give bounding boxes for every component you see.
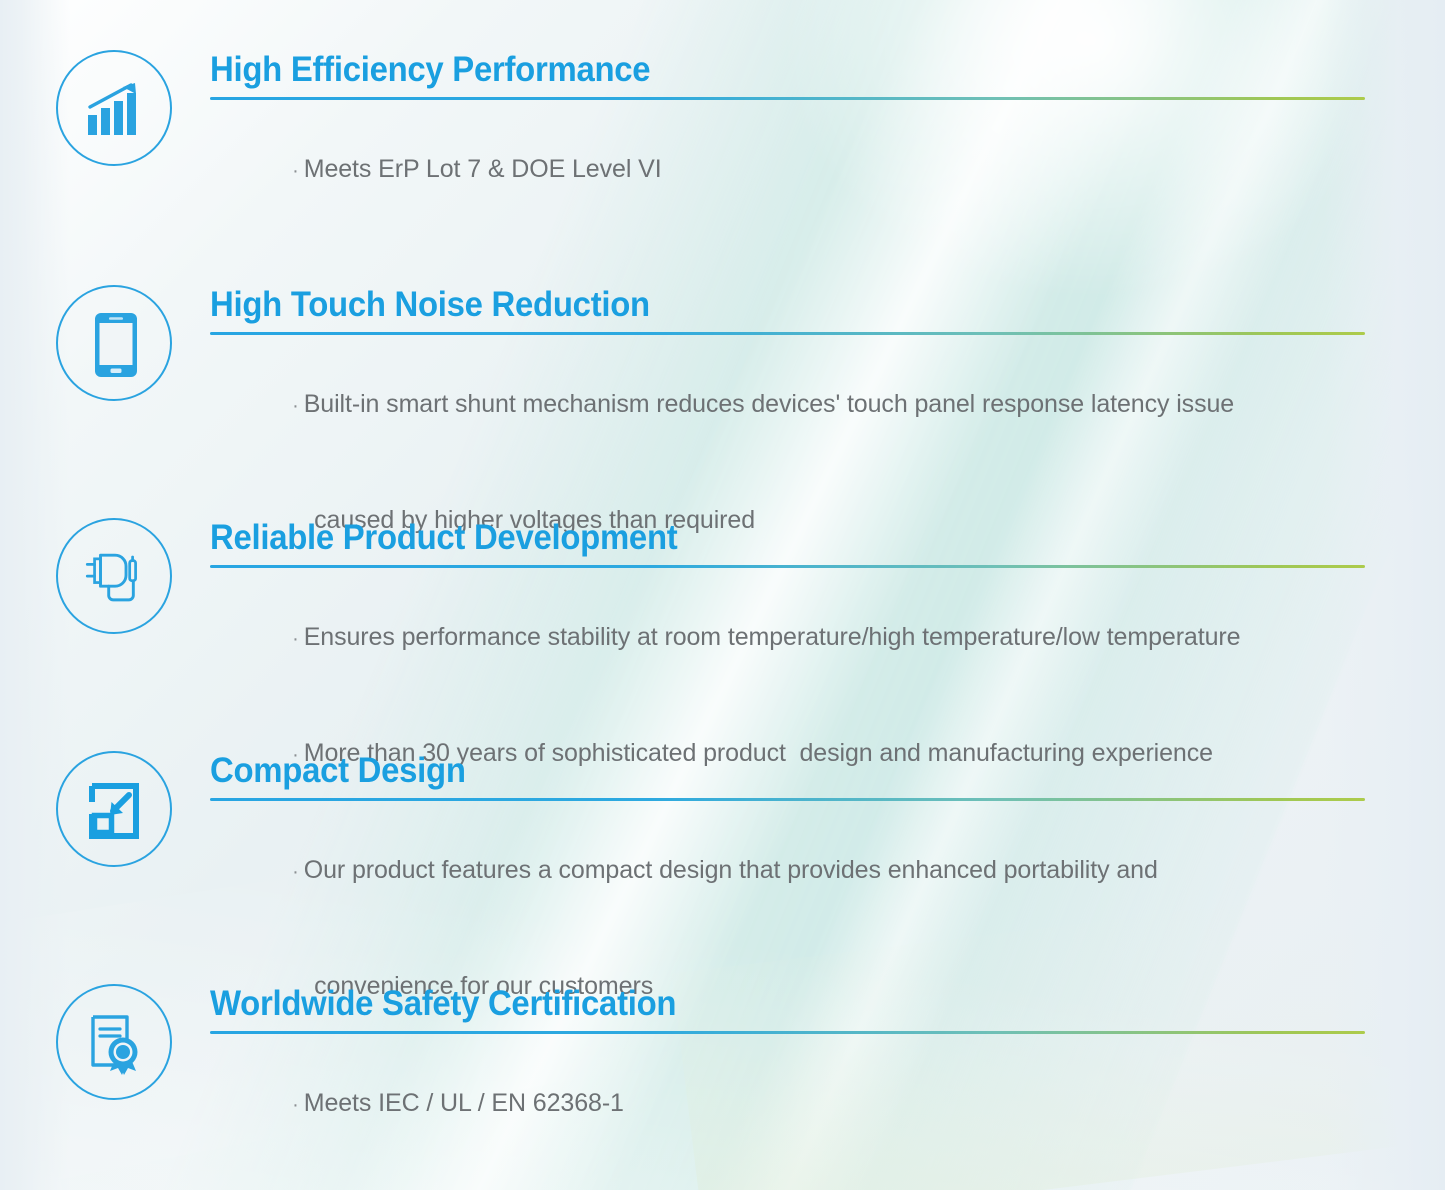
feature-divider — [210, 565, 1365, 568]
feature-divider — [210, 97, 1365, 100]
feature-title: High Touch Noise Reduction — [210, 285, 1296, 325]
bullet-text: Ensures performance stability at room te… — [304, 623, 1241, 651]
bullet-text: Meets IEC / UL / EN 62368-1 — [304, 1089, 624, 1117]
feature-bullet-line: ·Meets IEC / UL / EN 62368-1 — [210, 1046, 1365, 1162]
smartphone-icon — [85, 314, 147, 376]
bullet-text: Our product features a compact design th… — [304, 856, 1158, 884]
feature-title: High Efficiency Performance — [210, 50, 1296, 90]
bullet-text: Built-in smart shunt mechanism reduces d… — [304, 390, 1234, 418]
power-adapter-icon — [85, 547, 147, 609]
bullet-marker: · — [292, 1094, 304, 1116]
feature-icon-container — [56, 518, 176, 638]
bullet-marker: · — [292, 160, 304, 182]
feature-title: Reliable Product Development — [210, 518, 1296, 558]
feature-icon-container — [56, 751, 176, 871]
feature-list: High Efficiency Performance ·Meets ErP L… — [0, 0, 1445, 1190]
feature-bullet-list: ·Meets ErP Lot 7 & DOE Level VI — [210, 112, 1365, 228]
feature-icon-container — [56, 984, 176, 1104]
feature-bullet-line: ·Built-in smart shunt mechanism reduces … — [210, 347, 1365, 463]
feature-divider — [210, 1031, 1365, 1034]
feature-divider — [210, 798, 1365, 801]
feature-icon-container — [56, 285, 176, 405]
feature-title: Compact Design — [210, 751, 1296, 791]
feature-bullet-line: ·Meets ErP Lot 7 & DOE Level VI — [210, 112, 1365, 228]
feature-bullet-list: ·Meets IEC / UL / EN 62368-1 — [210, 1046, 1365, 1162]
bar-chart-growth-icon — [85, 79, 147, 141]
feature-text-block: High Efficiency Performance ·Meets ErP L… — [210, 50, 1365, 228]
feature-divider — [210, 332, 1365, 335]
feature-bullet-line: ·Our product features a compact design t… — [210, 813, 1365, 929]
feature-title: Worldwide Safety Certification — [210, 984, 1296, 1024]
bullet-marker: · — [292, 628, 304, 650]
feature-bullet-line: ·Ensures performance stability at room t… — [210, 580, 1365, 696]
compact-resize-icon — [85, 780, 147, 842]
feature-text-block: Worldwide Safety Certification ·Meets IE… — [210, 984, 1365, 1162]
bullet-marker: · — [292, 395, 304, 417]
bullet-text: Meets ErP Lot 7 & DOE Level VI — [304, 155, 662, 183]
feature-icon-container — [56, 50, 176, 170]
feature-list-page: High Efficiency Performance ·Meets ErP L… — [0, 0, 1445, 1190]
bullet-marker: · — [292, 861, 304, 883]
certificate-seal-icon — [85, 1013, 147, 1075]
